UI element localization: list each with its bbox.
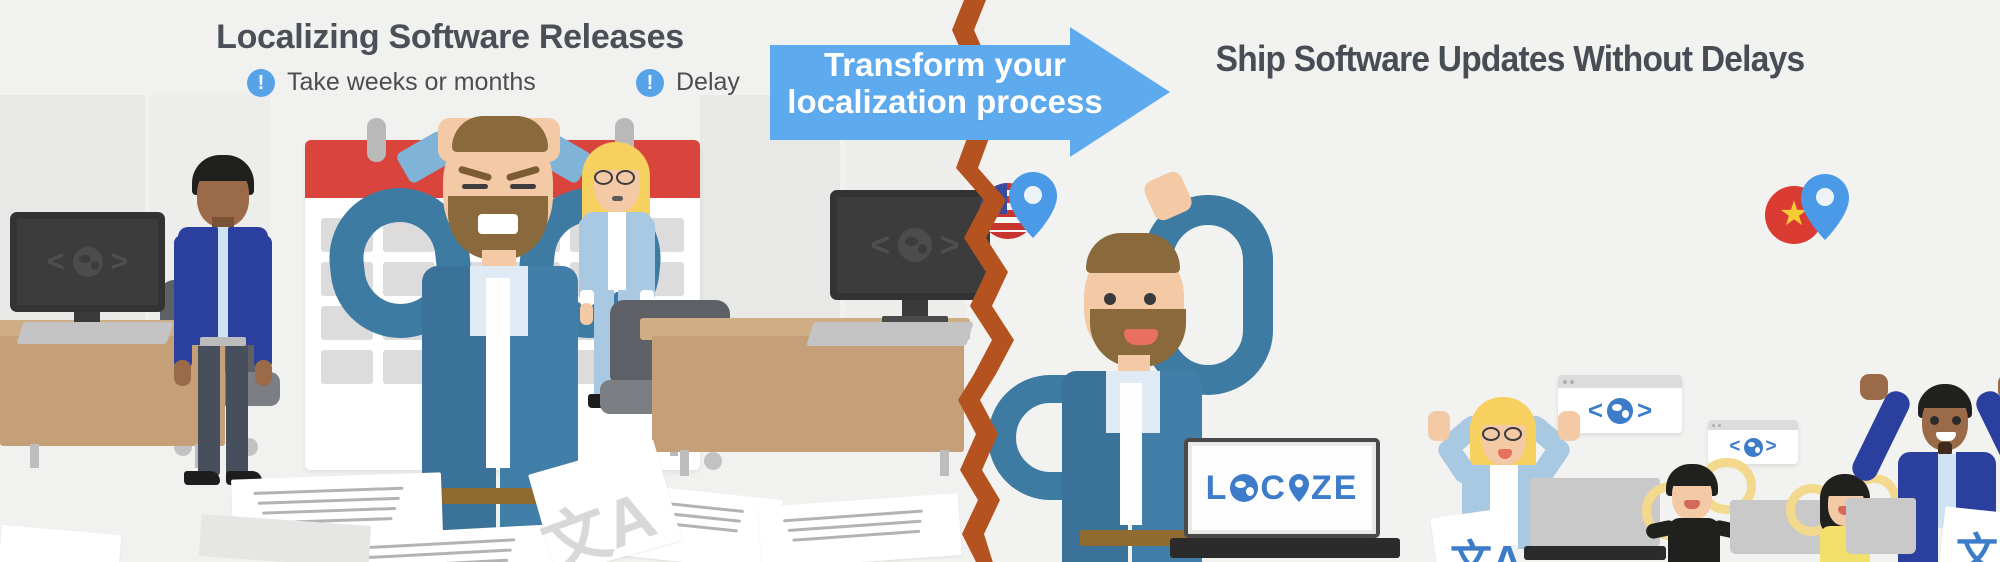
infographic-canvas: < > [0, 0, 2000, 562]
laptop-locize: L C ZE [1170, 438, 1400, 562]
pin-i-icon [1288, 473, 1310, 503]
bullet-take-weeks[interactable]: ! Take weeks or months [247, 68, 536, 97]
map-pin-icon-target [1800, 172, 1850, 242]
glasses-right [616, 170, 635, 185]
bullet-label: Take weeks or months [287, 68, 536, 97]
desk-front [652, 336, 964, 452]
glasses-left [594, 170, 613, 185]
exclamation-circle-icon: ! [636, 69, 664, 97]
exclamation-circle-icon: ! [247, 69, 275, 97]
translate-glyph: 文A [1450, 527, 1522, 562]
desk-leg [30, 444, 39, 468]
banner-text: Transform your localization process [770, 47, 1120, 121]
right-panel-title: Ship Software Updates Without Delays [1175, 38, 1845, 80]
person-man-blue-blazer [168, 155, 278, 500]
desk-leg [680, 450, 689, 476]
locize-letter-c: C [1260, 469, 1287, 508]
transform-banner: Transform your localization process [770, 27, 1170, 157]
left-panel-title: Localizing Software Releases [200, 18, 700, 57]
code-globe-icon: < > [10, 212, 165, 312]
locize-letter-e: E [1334, 469, 1359, 508]
laptop-4 [1846, 498, 1916, 562]
banner-line-2: localization process [770, 84, 1120, 121]
locize-letter-z: Z [1311, 469, 1334, 508]
locize-letter-l: L [1206, 469, 1229, 508]
globe-o-icon [1230, 474, 1258, 502]
bullet-delay[interactable]: ! Delay [636, 68, 740, 97]
bullet-label: Delay [676, 68, 740, 97]
keyboard [16, 322, 173, 344]
monitor-left: < > [10, 212, 165, 312]
locize-logo: L C ZE [1192, 446, 1372, 530]
translate-glyph: 文A [1956, 520, 2000, 562]
paper-sheet [0, 525, 122, 562]
banner-line-1: Transform your [770, 47, 1120, 84]
